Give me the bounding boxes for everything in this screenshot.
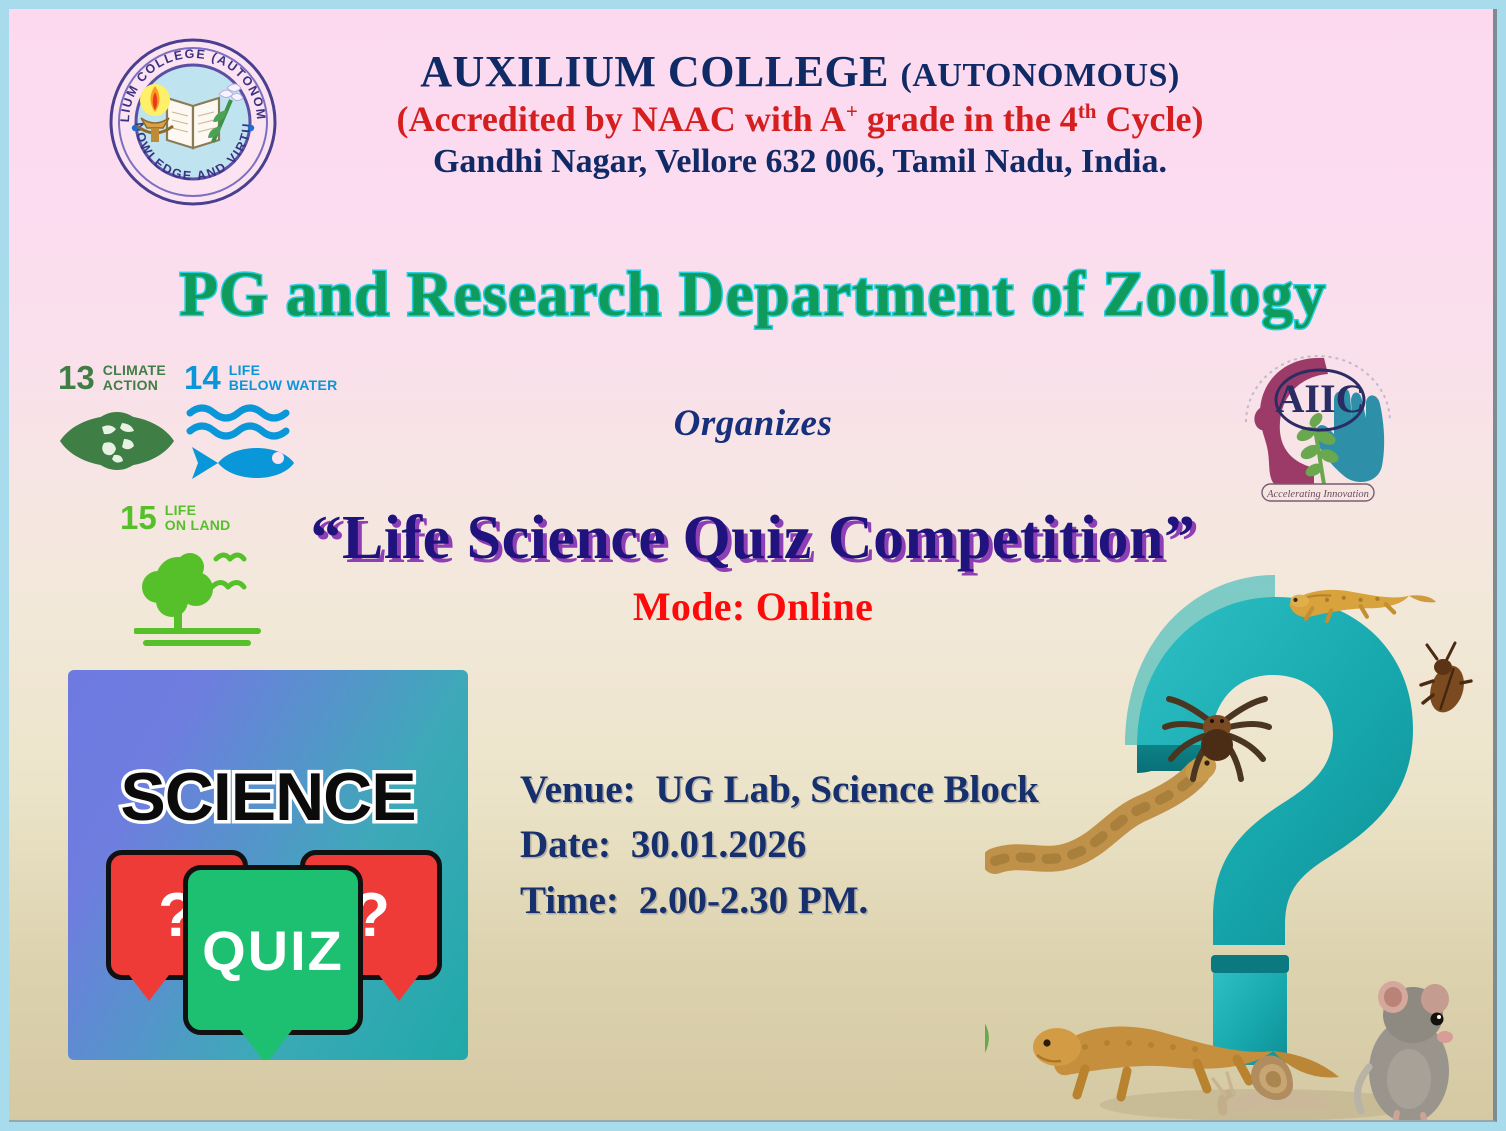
science-quiz-badge: SCIENCE ? ? QUIZ xyxy=(68,670,468,1060)
sdg-14-number: 14 xyxy=(184,363,221,393)
sdg-14-label-line1: LIFE xyxy=(229,363,338,378)
bearded-dragon-icon xyxy=(1033,1027,1339,1097)
venue-label: Venue: xyxy=(520,762,636,817)
organizes-label: Organizes xyxy=(0,402,1506,445)
accreditation-end: Cycle) xyxy=(1097,99,1204,139)
beetle-icon xyxy=(1421,643,1471,717)
time-label: Time: xyxy=(520,873,619,928)
college-autonomous-tag: (AUTONOMOUS) xyxy=(901,57,1180,94)
venue-value: UG Lab, Science Block xyxy=(655,762,1039,817)
time-row: Time: 2.00-2.30 PM. xyxy=(520,873,1039,928)
date-row: Date: 30.01.2026 xyxy=(520,817,1039,872)
college-seal-logo: AUXILIUM COLLEGE (AUTONOMOUS) KNOWLEDGE … xyxy=(107,36,279,208)
venue-row: Venue: UG Lab, Science Block xyxy=(520,762,1039,817)
time-value: 2.00-2.30 PM. xyxy=(639,873,869,928)
sdg-13-number: 13 xyxy=(58,363,95,393)
accreditation-prefix: (Accredited by NAAC with A xyxy=(397,99,846,139)
question-mark-glyph xyxy=(1125,575,1413,1065)
poster-canvas: AUXILIUM COLLEGE (AUTONOMOUS) KNOWLEDGE … xyxy=(0,0,1506,1131)
date-label: Date: xyxy=(520,817,611,872)
science-quiz-badge-science-text: SCIENCE xyxy=(68,758,468,836)
quiz-bubble: QUIZ xyxy=(183,865,363,1035)
event-title: “Life Science Quiz Competition” xyxy=(0,503,1506,574)
accreditation-line: (Accredited by NAAC with A+ grade in the… xyxy=(300,98,1300,140)
question-mark-animal-scene xyxy=(985,545,1505,1131)
college-header: AUXILIUM COLLEGE (AUTONOMOUS) (Accredite… xyxy=(300,48,1300,182)
tree-frog-icon xyxy=(985,954,989,1067)
sdg-13-label-line2: ACTION xyxy=(103,378,166,393)
date-value: 30.01.2026 xyxy=(631,817,807,872)
event-mode: Mode: Online xyxy=(0,583,1506,630)
sdg-14-label-line2: BELOW WATER xyxy=(229,378,338,393)
college-name-line: AUXILIUM COLLEGE (AUTONOMOUS) xyxy=(300,48,1300,96)
sdg-13-label-line1: CLIMATE xyxy=(103,363,166,378)
accreditation-plus: + xyxy=(846,99,858,123)
college-name: AUXILIUM COLLEGE xyxy=(420,47,889,96)
science-quiz-badge-quiz-text: QUIZ xyxy=(188,870,358,1030)
accreditation-ordinal: th xyxy=(1078,99,1097,123)
aiic-tagline: Accelerating Innovation xyxy=(1266,489,1369,500)
accreditation-mid: grade in the 4 xyxy=(858,99,1078,139)
event-details: Venue: UG Lab, Science Block Date: 30.01… xyxy=(520,762,1039,928)
department-title: PG and Research Department of Zoology xyxy=(0,258,1506,331)
college-address: Gandhi Nagar, Vellore 632 006, Tamil Nad… xyxy=(300,142,1300,182)
